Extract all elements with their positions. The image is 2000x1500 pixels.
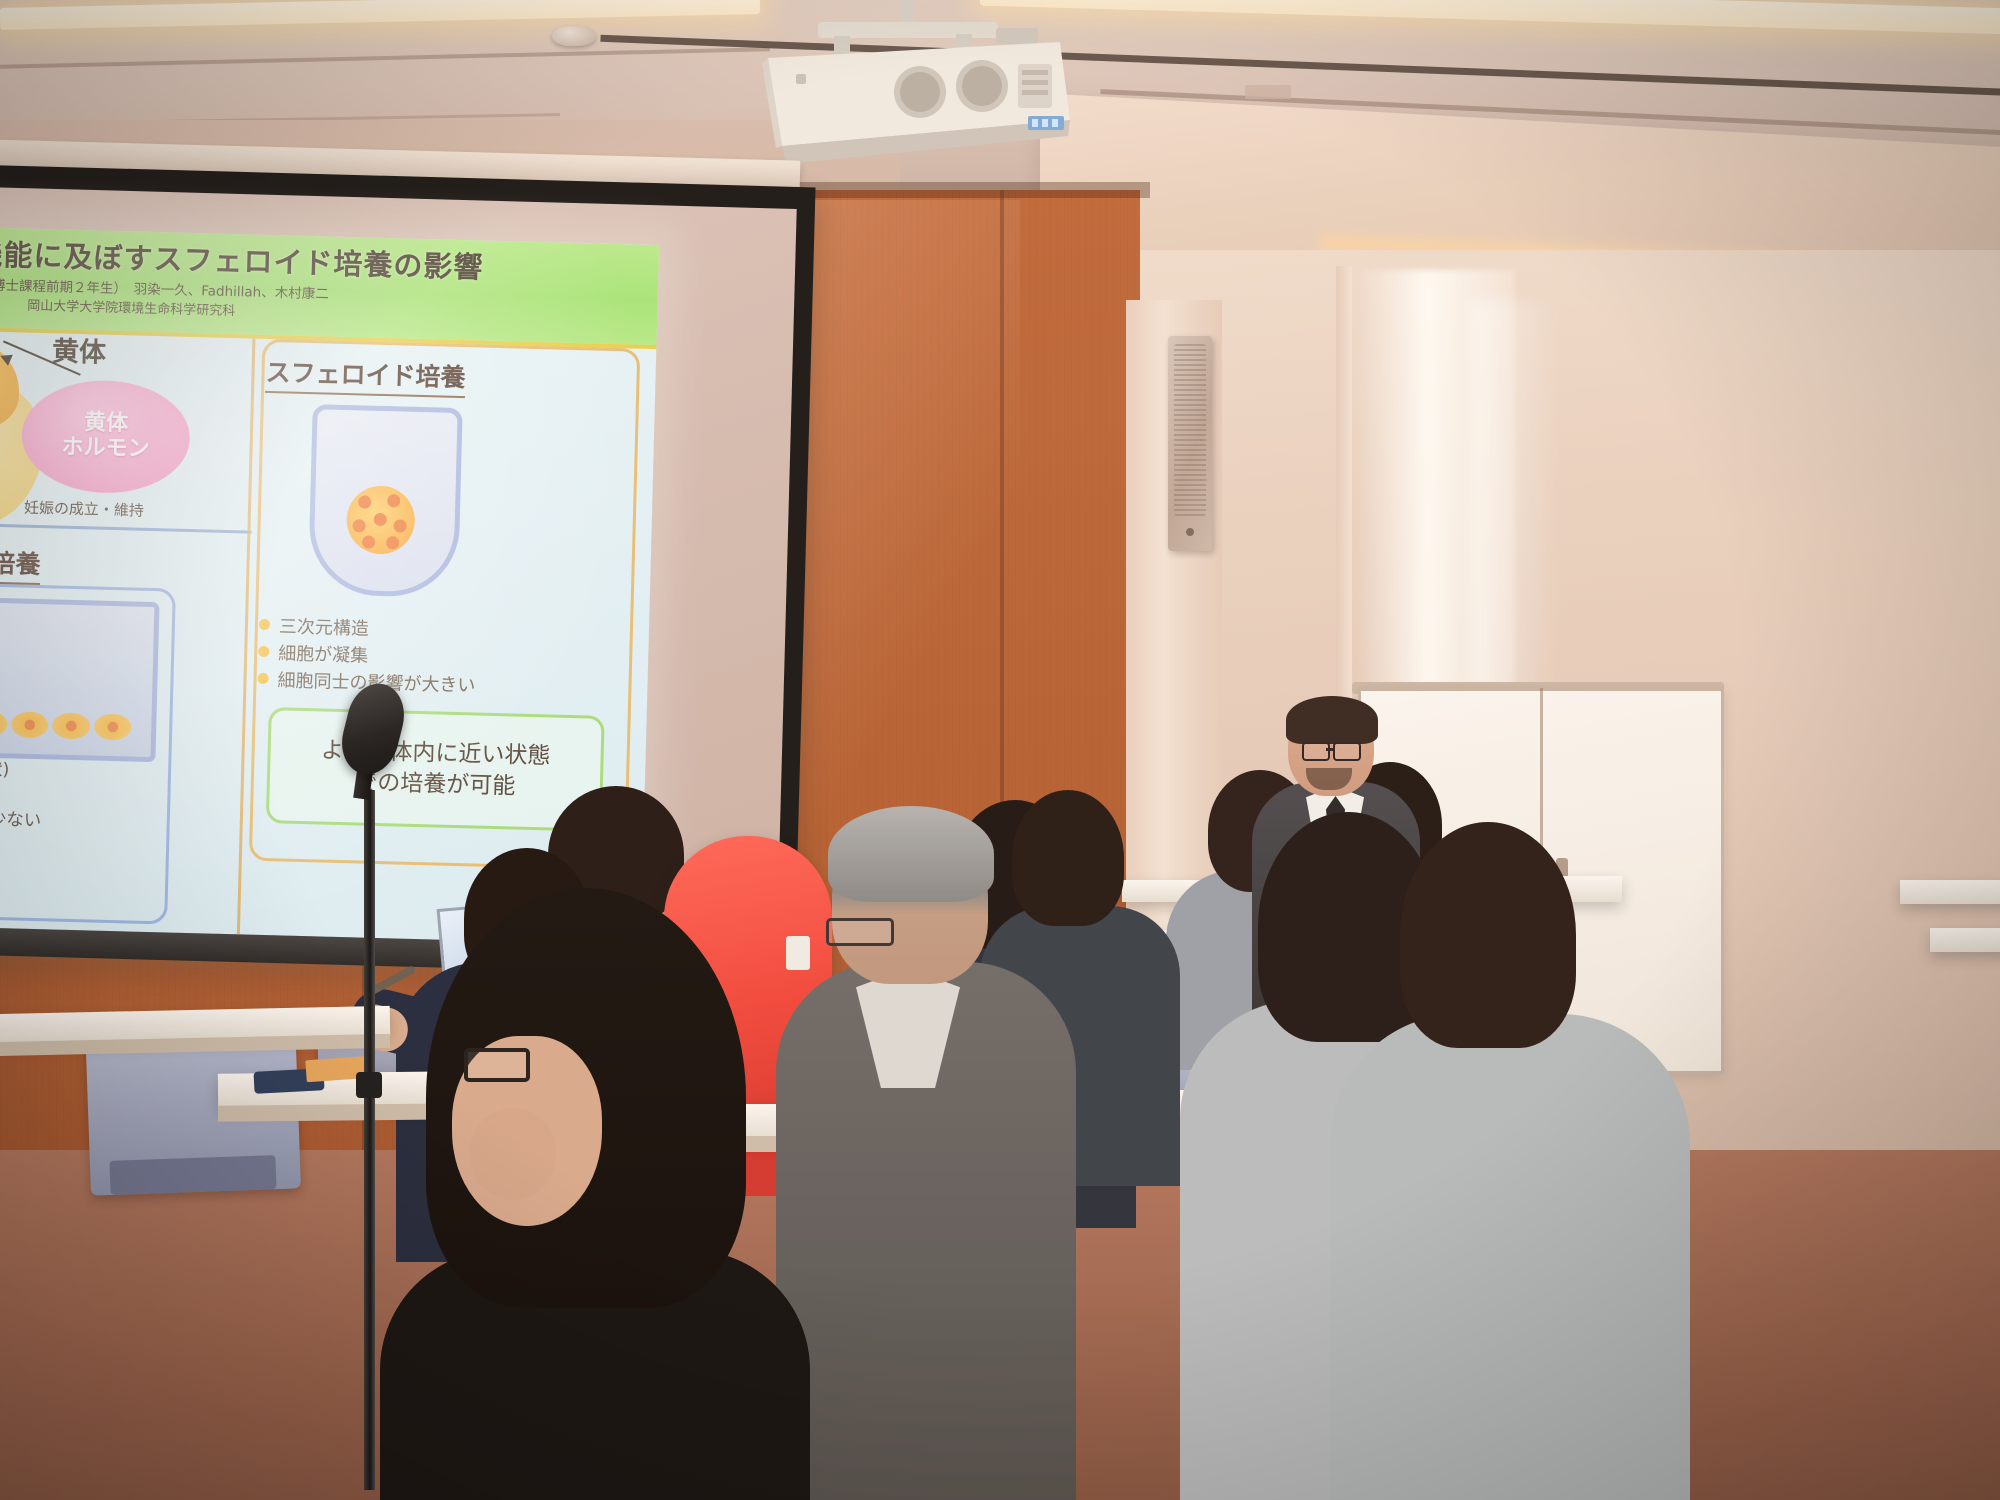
cell-dot-icon — [374, 513, 387, 526]
attendee-head — [1400, 822, 1576, 1048]
cell-icon — [10, 711, 48, 738]
monolayer-heading: 来の単層培養 — [0, 541, 41, 585]
hormone-subtitle: 妊娠の成立・維持 — [24, 497, 145, 521]
glasses-icon — [1302, 742, 1330, 761]
bullet-dot-icon — [257, 673, 268, 684]
glasses-icon — [464, 1048, 530, 1082]
cell-icon — [52, 712, 90, 739]
speaker-grill — [1174, 344, 1206, 516]
cell-dot-icon — [387, 494, 400, 507]
speaker-led-icon — [1186, 528, 1194, 536]
spheroid-bullet: 三次元構造 — [279, 616, 370, 639]
ceiling-projector — [760, 0, 1090, 200]
glasses-icon — [1333, 742, 1361, 761]
seminar-table — [1930, 928, 2000, 952]
seminar-room-photograph: 胞の機能に及ぼすスフェロイド培養の影響 ○丸尾直奈（博士課程前期２年生） 羽染一… — [0, 0, 2000, 1500]
attendee-body — [1330, 1014, 1690, 1500]
glasses-bridge-icon — [1326, 748, 1334, 751]
smoke-detector-icon — [552, 26, 596, 46]
corpus-luteum-label: 黄体 — [52, 329, 107, 369]
glasses-icon — [826, 918, 894, 946]
seminar-table — [1900, 880, 2000, 904]
cup — [786, 936, 810, 970]
conclusion-box: より生体内に近い状態 での培養が可能 — [266, 707, 605, 832]
presenter-hair — [1286, 696, 1378, 744]
monolayer-cell-row — [0, 707, 132, 741]
microphone-clamp — [356, 1072, 382, 1098]
attendee-gray-hair — [828, 806, 994, 902]
spheroid-heading: スフェロイド培養 — [265, 353, 466, 398]
microphone-stand — [364, 790, 375, 1490]
conclusion-line-2: での培養が可能 — [354, 767, 516, 802]
cell-dot-icon — [358, 495, 371, 508]
cell-dot-icon — [386, 536, 399, 549]
ceiling-vent — [1245, 85, 1291, 99]
hormone-label-line1: 黄体 — [84, 412, 129, 438]
attendee-head — [1012, 790, 1124, 926]
foreground-attendee-hand — [470, 1108, 556, 1200]
hormone-label-line2: ホルモン — [61, 436, 150, 463]
spheroid-bullet-list: 三次元構造 細胞が凝集 細胞同士の影響が大きい — [257, 613, 619, 703]
chair-leg — [109, 1155, 276, 1195]
monolayer-bullet-list: 元構造 (単層状) に接着 同士の影響が少ない — [0, 755, 215, 838]
cell-dot-icon — [362, 535, 375, 548]
spheroid-bullet: 細胞が凝集 — [278, 643, 369, 666]
cell-dot-icon — [393, 519, 406, 532]
bullet-dot-icon — [258, 646, 269, 657]
cell-icon — [0, 710, 7, 737]
cell-dot-icon — [352, 519, 365, 532]
cell-icon — [93, 714, 131, 741]
bullet-dot-icon — [259, 619, 270, 630]
